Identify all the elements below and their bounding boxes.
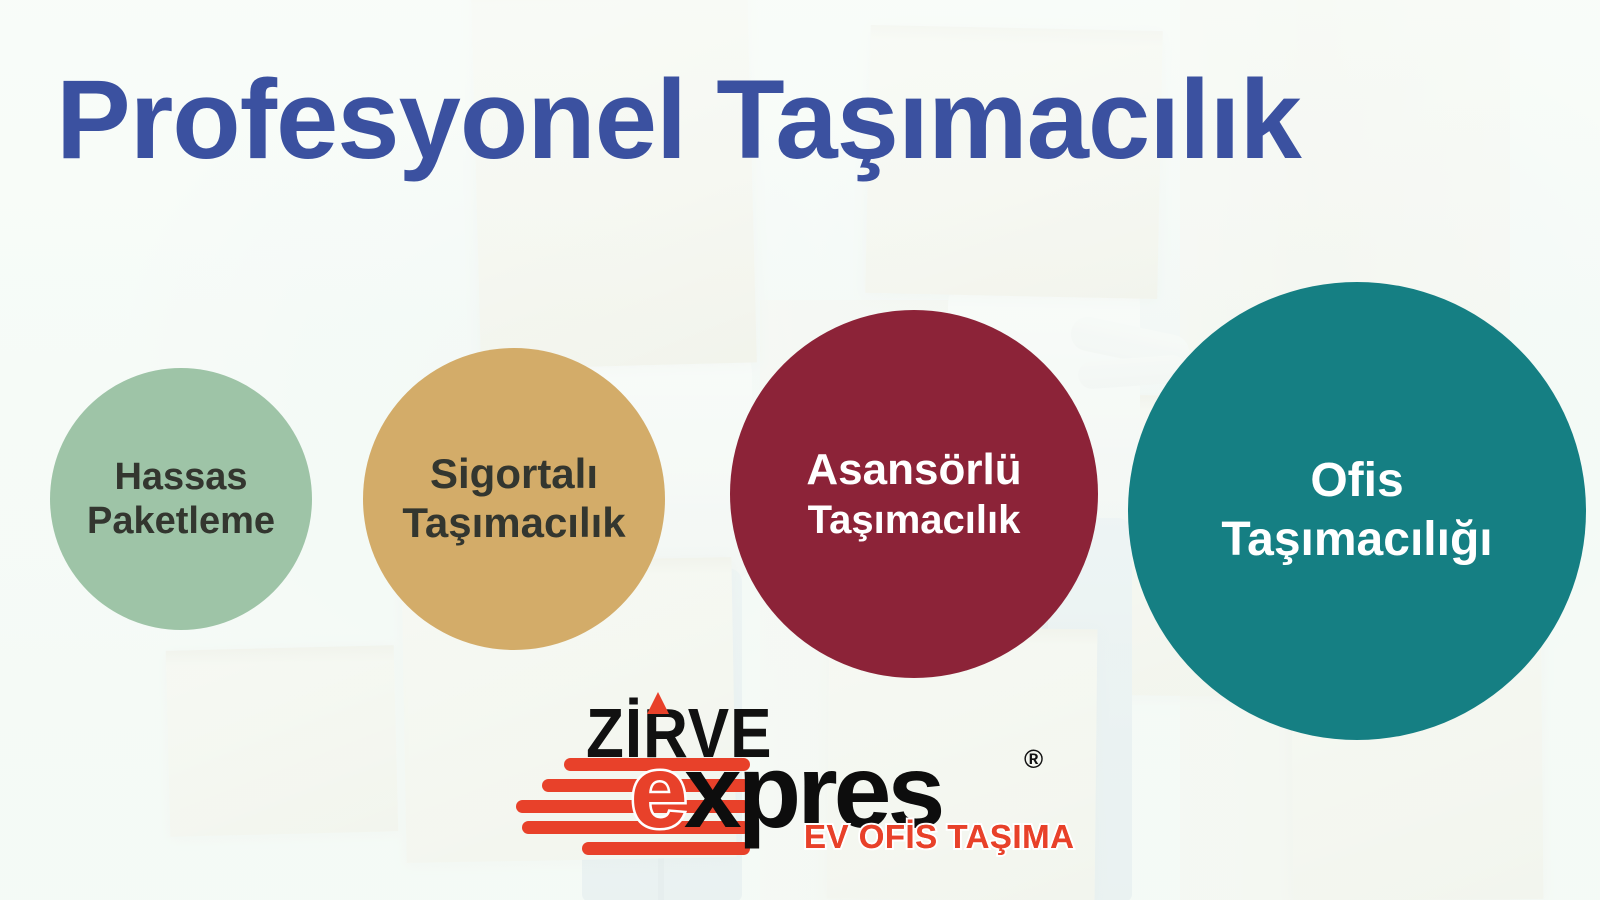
promotional-banner: Profesyonel Taşımacılık Hassas Paketleme… [0, 0, 1600, 900]
service-label-line1: Hassas [114, 457, 247, 497]
service-circle-ofis-tasimaciligi[interactable]: Ofis Taşımacılığı [1128, 282, 1586, 740]
service-label-line1: Sigortalı [430, 452, 598, 497]
service-circle-asansorlu-tasimacilik[interactable]: Asansörlü Taşımacılık [730, 310, 1098, 678]
page-title: Profesyonel Taşımacılık [56, 64, 1301, 176]
mountain-peak-icon [647, 692, 669, 714]
service-circle-hassas-paketleme[interactable]: Hassas Paketleme [50, 368, 312, 630]
service-label-line2: Paketleme [87, 501, 275, 541]
logo-tagline: EV OFİS TAŞIMA [804, 818, 1074, 856]
service-circle-sigortali-tasimacilik[interactable]: Sigortalı Taşımacılık [363, 348, 665, 650]
service-label-line2: Taşımacılığı [1221, 515, 1492, 566]
service-label-line2: Taşımacılık [402, 501, 625, 546]
logo-expres-accent-letter: e [630, 734, 684, 850]
service-label-line1: Ofis [1310, 456, 1403, 507]
service-label-line1: Asansörlü [806, 447, 1021, 494]
company-logo[interactable]: ZİRVE expres ® EV OFİS TAŞIMA EV OFİS TA… [512, 700, 1072, 880]
service-label-line2: Taşımacılık [808, 499, 1021, 541]
registered-trademark-icon: ® [1024, 744, 1043, 775]
